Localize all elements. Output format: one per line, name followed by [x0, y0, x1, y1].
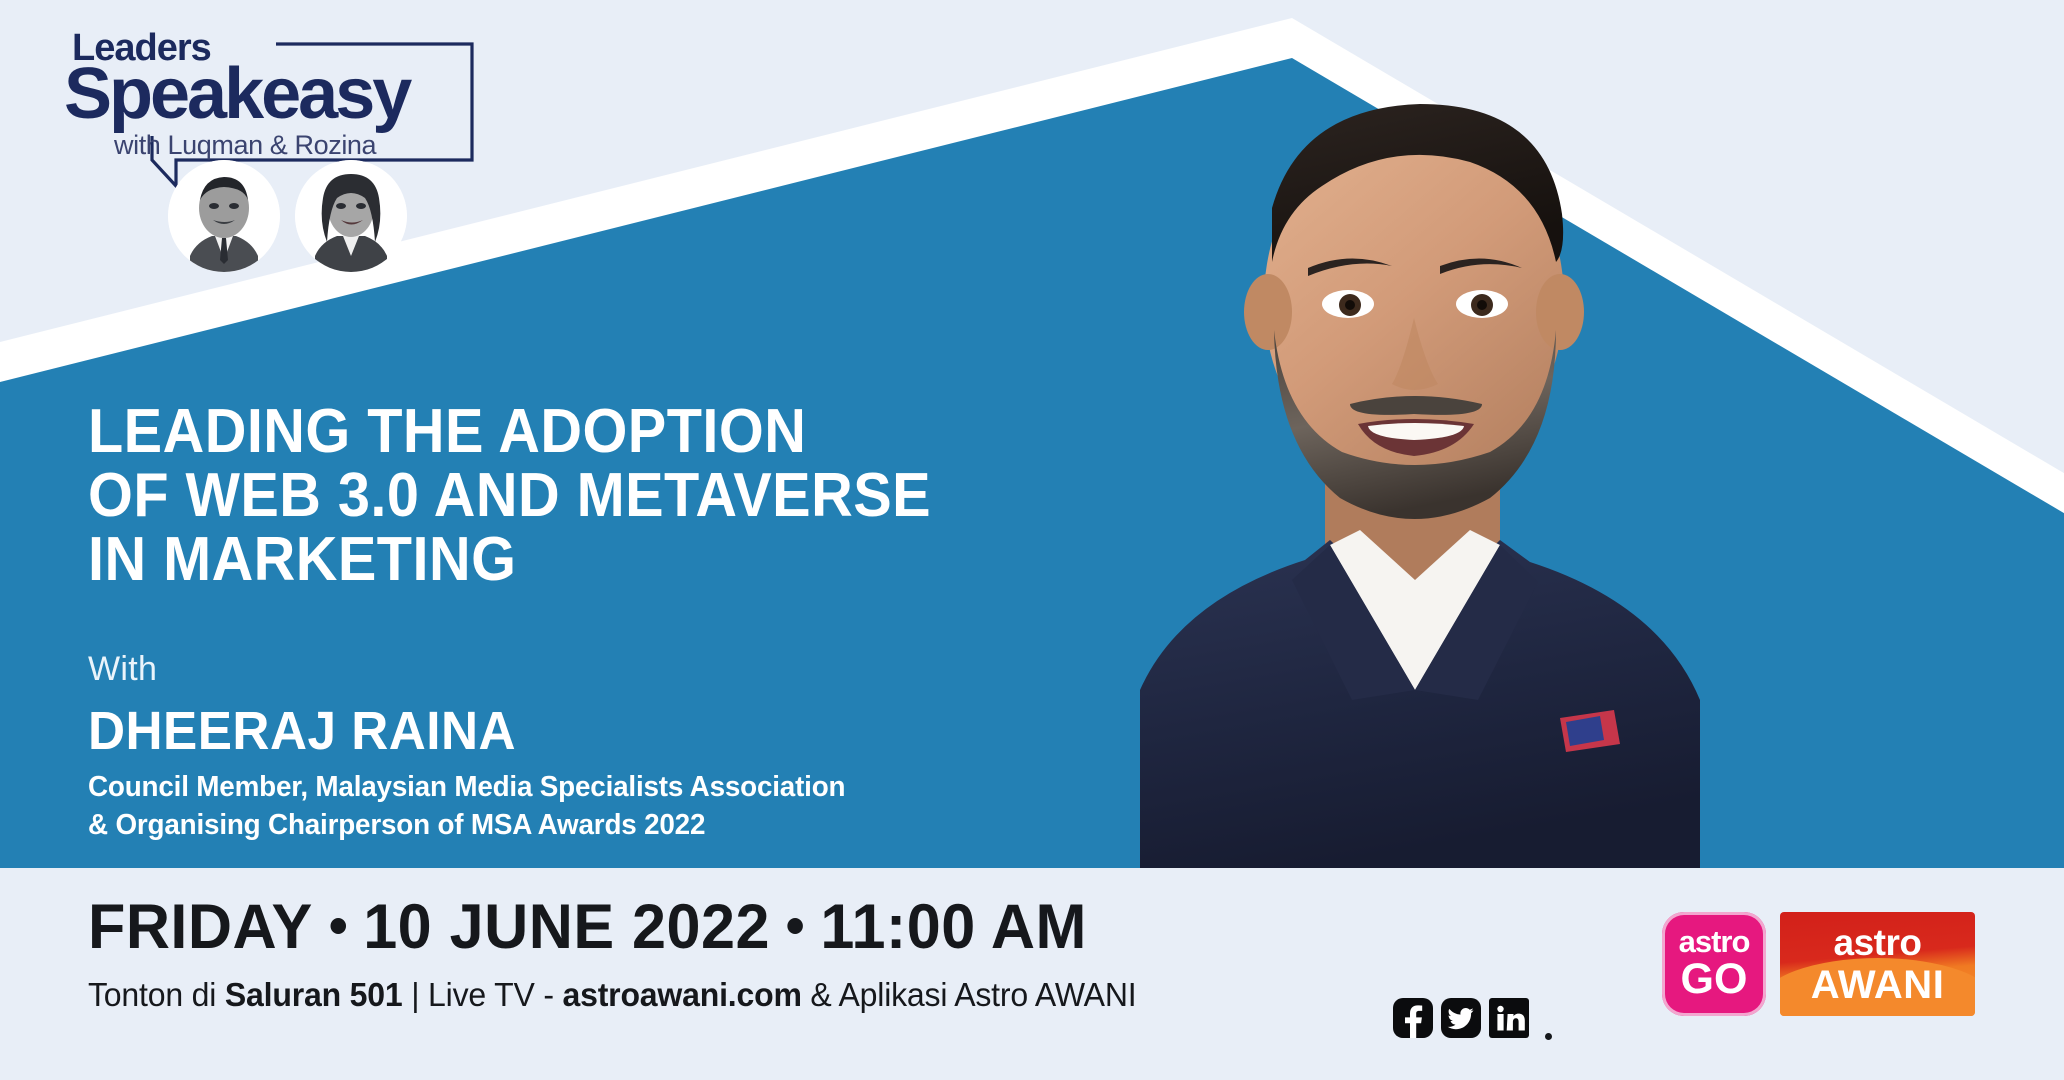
headline-line-3: IN MARKETING	[88, 528, 1018, 592]
speaker-name: DHEERAJ RAINA	[88, 700, 516, 762]
trailing-period	[1545, 1033, 1552, 1040]
astro-awani-word-astro: astro	[1834, 924, 1922, 961]
twitter-icon[interactable]	[1441, 998, 1481, 1038]
host-avatar-luqman	[168, 160, 280, 272]
website-link[interactable]: astroawani.com	[562, 976, 801, 1013]
channel-number: Saluran 501	[225, 976, 403, 1013]
with-label: With	[88, 650, 157, 689]
speaker-role-line-2: & Organising Chairperson of MSA Awards 2…	[88, 806, 971, 844]
separator-dot-1	[330, 918, 346, 934]
headline-line-1: LEADING THE ADOPTION	[88, 400, 1018, 464]
host-avatars	[168, 160, 418, 272]
headline-line-2: OF WEB 3.0 AND METAVERSE	[88, 464, 1018, 528]
speaker-role-line-1: Council Member, Malaysian Media Speciali…	[88, 768, 971, 806]
logo-line-main: Speakeasy	[64, 54, 412, 134]
event-date: 10 JUNE 2022	[363, 892, 770, 962]
separator-dot-2	[787, 918, 803, 934]
astro-awani-logo[interactable]: astro AWANI	[1780, 912, 1975, 1016]
astro-go-word-go: GO	[1681, 958, 1748, 1001]
event-datetime: FRIDAY10 JUNE 202211:00 AM	[88, 891, 1087, 963]
watch-info: Tonton di Saluran 501|Live TV - astroawa…	[88, 976, 1136, 1014]
page-title: LEADING THE ADOPTION OF WEB 3.0 AND META…	[88, 400, 1018, 592]
live-tv-label: Live TV -	[428, 976, 562, 1013]
poster-canvas: Leaders Speakeasy with Luqman & Rozina	[0, 0, 2064, 1080]
brand-logos: astro GO astro AWANI	[1662, 912, 1975, 1016]
watch-prefix: Tonton di	[88, 976, 225, 1013]
astro-awani-word-awani: AWANI	[1811, 965, 1945, 1005]
linkedin-icon[interactable]	[1489, 998, 1529, 1038]
pipe-separator: |	[411, 976, 419, 1014]
astro-go-logo[interactable]: astro GO	[1662, 912, 1766, 1016]
host-avatar-rozina	[295, 160, 407, 272]
app-text: & Aplikasi Astro AWANI	[802, 976, 1137, 1013]
speaker-photo	[1000, 0, 2010, 868]
astro-go-word-astro: astro	[1679, 927, 1750, 956]
facebook-icon[interactable]	[1393, 998, 1433, 1038]
logo-line-sub: with Luqman & Rozina	[113, 130, 378, 160]
event-day: FRIDAY	[88, 892, 313, 962]
speaker-role: Council Member, Malaysian Media Speciali…	[88, 768, 971, 845]
social-links	[1393, 998, 1529, 1038]
event-time: 11:00 AM	[820, 892, 1087, 962]
